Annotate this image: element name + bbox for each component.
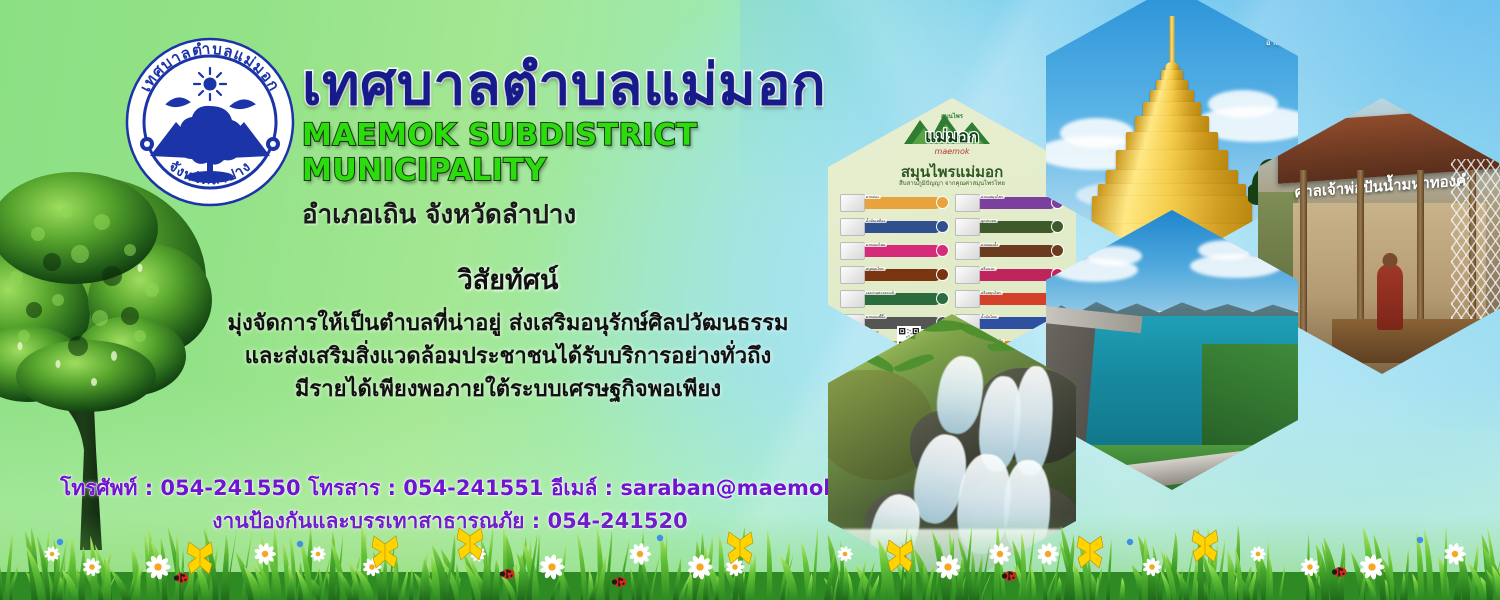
herbal-product-item: สบู่สมุนไพร <box>840 264 949 285</box>
herbal-product-item: ยาหม่องไพล <box>840 240 949 261</box>
poster-contact-icon <box>844 337 850 343</box>
daisy-flower-icon <box>629 543 651 565</box>
product-dot-icon <box>936 220 949 233</box>
product-box-icon <box>840 266 865 284</box>
municipality-seal: เทศบาลตำบลแม่มอก จังหวัดลำปาง <box>124 36 296 208</box>
product-label: ลูกประคบ <box>979 219 998 223</box>
product-dot-icon <box>936 268 949 281</box>
poster-contact-row: เทศบาลตำบลแม่มอก <box>844 337 892 343</box>
product-label: ยาหม่อง <box>864 195 881 199</box>
vision-line-2: และส่งเสริมสิ่งแวดล้อมประชาชนได้รับบริกา… <box>178 340 838 373</box>
herbal-product-item: ลูกประคบ <box>955 216 1064 237</box>
product-box-icon <box>840 218 865 236</box>
vision-block: วิสัยทัศน์ มุ่งจัดการให้เป็นตำบลที่น่าอย… <box>178 258 838 406</box>
hexagon-photo-collage: สมุนไพร แม่มอก maemok สมุนไพรแม่มอก สืบส… <box>810 0 1500 574</box>
grass-blade <box>221 534 229 600</box>
product-dot-icon <box>936 244 949 257</box>
product-dot-icon <box>1051 220 1064 233</box>
grass-decoration <box>0 514 1500 600</box>
herbal-poster-subtitle: สืบสานภูมิปัญญา จากคุณค่าสมุนไพรไทย <box>828 178 1076 188</box>
svg-text:maemok: maemok <box>935 147 970 156</box>
small-blue-flower-icon <box>297 541 303 547</box>
vision-heading: วิสัยทัศน์ <box>178 258 838 301</box>
poster-contact-text: เทศบาลตำบลแม่มอก <box>852 338 881 343</box>
product-box-icon <box>840 290 865 308</box>
product-label: ชาสมุนไพร <box>864 339 886 343</box>
butterfly-icon <box>1192 530 1218 562</box>
product-box-icon <box>955 218 980 236</box>
poster-contact-icon <box>844 345 850 351</box>
grass-blade <box>1443 525 1447 600</box>
butterfly-icon <box>457 528 483 560</box>
product-box-icon <box>955 242 980 260</box>
product-label: ยาหม่องขี้ผึ้ง <box>864 315 887 319</box>
poster-contact-text: www.maemok.go.th <box>852 346 884 350</box>
product-box-icon <box>840 194 865 212</box>
contact-line-phone-fax-email[interactable]: โทรศัพท์ : 054-241550 โทรสาร : 054-24155… <box>60 472 840 505</box>
product-dot-icon <box>936 292 949 305</box>
seal-sun-icon <box>194 68 226 100</box>
grass-svg <box>0 514 1500 600</box>
herbal-product-item: ยาหม่อง <box>840 192 949 213</box>
svg-text:สมุนไพร: สมุนไพร <box>941 112 964 120</box>
poster-contact-icon <box>844 330 850 336</box>
vision-line-1: มุ่งจัดการให้เป็นตำบลที่น่าอยู่ ส่งเสริม… <box>178 307 838 340</box>
svg-text:แม่มอก: แม่มอก <box>925 127 979 147</box>
pagoda-caption: วัดพร บ้านกุ่ม อำเภอ <box>1252 0 1288 49</box>
grass-blade <box>424 558 431 600</box>
poster-contact-icon <box>844 352 850 358</box>
daisy-flower-icon <box>1037 543 1059 565</box>
grass-blade <box>767 529 773 600</box>
product-label: น้ำมันไพล <box>979 315 999 319</box>
daisy-flower-icon <box>310 546 326 562</box>
shrine-guardian-statue <box>1377 264 1403 330</box>
product-dot-icon <box>1051 244 1064 257</box>
product-label: สบู่สมุนไพร <box>864 267 886 271</box>
small-blue-flower-icon <box>1417 537 1423 543</box>
product-label: ครีมสมุนไพร <box>979 291 1003 295</box>
herbal-product-item: ยาหม่องน้ำ <box>955 240 1064 261</box>
product-label: ครีมนวด <box>979 267 997 271</box>
product-dot-icon <box>936 196 949 209</box>
small-blue-flower-icon <box>1127 539 1133 545</box>
product-box-icon <box>955 290 980 308</box>
product-label: ยาหม่องไพล <box>864 243 887 247</box>
herbal-product-item: น้ำมันเหลือง <box>840 216 949 237</box>
grass-blade <box>719 534 725 600</box>
product-label: ยาหม่องน้ำ <box>979 243 1000 247</box>
product-box-icon <box>955 266 980 284</box>
grass-blade <box>328 531 335 600</box>
product-box-icon <box>955 194 980 212</box>
municipality-banner: เทศบาลตำบลแม่มอก จังหวัดลำปาง <box>0 0 1500 600</box>
product-box-icon <box>840 242 865 260</box>
daisy-flower-icon <box>837 546 853 562</box>
poster-contact-row: www.maemok.go.th <box>844 345 892 351</box>
vision-line-3: มีรายได้เพียงพอภายใต้ระบบเศรษฐกิจพอเพียง <box>178 373 838 406</box>
product-box-icon <box>840 338 865 356</box>
product-label: เจลว่านหางจระเข้ <box>864 291 896 295</box>
product-label: ยาดมสมุนไพร <box>979 195 1005 199</box>
daisy-flower-icon <box>989 543 1011 565</box>
small-blue-flower-icon <box>657 535 663 541</box>
small-blue-flower-icon <box>57 539 63 545</box>
herbal-product-item: เจลว่านหางจระเข้ <box>840 288 949 309</box>
maemok-herbal-logo-icon: สมุนไพร แม่มอก maemok <box>898 110 1006 162</box>
grass-blade <box>1021 533 1027 600</box>
grass-blade <box>175 532 179 600</box>
product-box-icon <box>840 314 865 332</box>
daisy-flower-icon <box>1250 546 1266 562</box>
poster-contact-row: โทร. 054-2415xx <box>844 330 892 336</box>
poster-contact-text: โทร. 054-2415xx <box>852 330 879 335</box>
product-label: น้ำมันเหลือง <box>864 219 887 223</box>
